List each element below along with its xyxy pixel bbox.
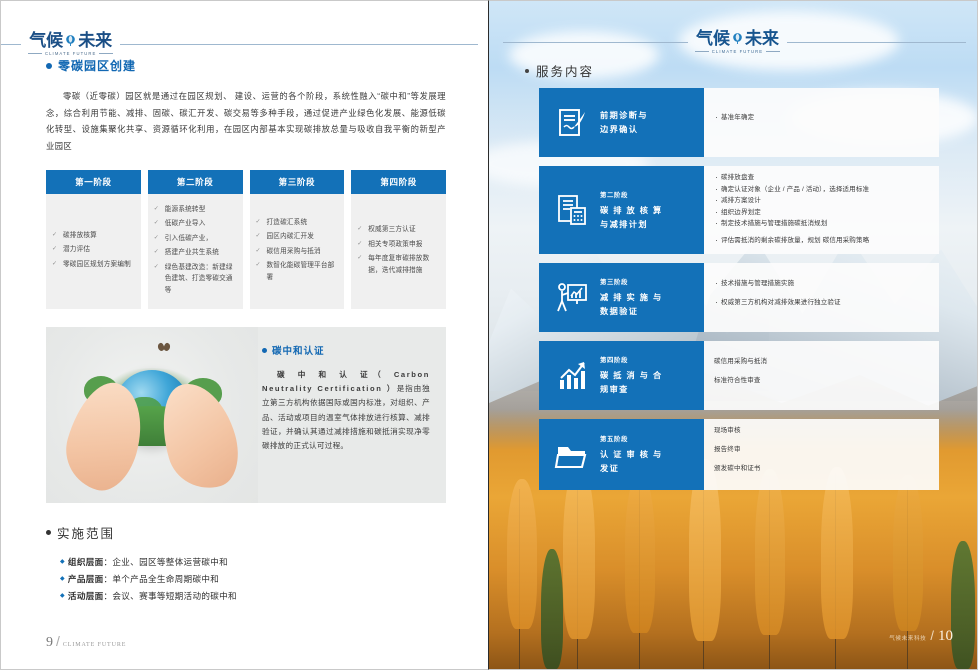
stage-item: 园区内碳汇开发 <box>256 231 339 243</box>
cn-body: 是指由独立第三方机构依据国际或国内标准，对组织、产品、活动或项目的温室气体排放进… <box>262 384 430 450</box>
carbon-neutrality-title: 碳中和认证 <box>262 343 430 357</box>
service-row-4-title: 第四阶段 碳 抵 消 与 合 规审查 <box>600 354 663 397</box>
detail-item: 评估需抵消的剩余碳排放量，规划 碳信用采购策略 <box>714 236 929 246</box>
report-calculator-icon <box>552 190 592 230</box>
stage-item: 打造碳汇系统 <box>256 217 339 229</box>
detail-item: 技术措施与管理措施实施 <box>714 279 929 289</box>
cn-lead-cn: 碳 中 和 认 证 <box>277 370 373 379</box>
service-row-5-line1: 认 证 审 核 与 <box>600 450 663 459</box>
right-page: 气候 未来 CLIMATE FUTURE <box>489 0 978 670</box>
tree-canopy-evergreen <box>541 549 563 669</box>
stage-header-2: 第二阶段 <box>148 170 243 194</box>
service-row-2-line2: 与减排计划 <box>600 220 648 229</box>
brand-name-part2: 未来 <box>745 30 779 47</box>
service-row-1-title: 前期诊断与 边界确认 <box>600 109 648 137</box>
detail-item: 颁发碳中和证书 <box>714 464 929 474</box>
logo-rule-right <box>120 44 478 45</box>
intro-paragraph: 零碳（近零碳）园区就是通过在园区规划、 建设、运营的各个阶段，系统性融入“碳中和… <box>46 88 446 154</box>
stage-column-3: 第三阶段 打造碳汇系统 园区内碳汇开发 碳信用采购与抵消 数智化能碳管理平台部署 <box>250 170 345 309</box>
service-row-5-title: 第五阶段 认 证 审 核 与 发证 <box>600 433 663 476</box>
service-row-5-stage-label: 第五阶段 <box>600 433 663 447</box>
scope-item-text: ：企业、园区等整体运营碳中和 <box>104 554 229 571</box>
service-row-3-details: 技术措施与管理措施实施 权威第三方机构对减排效果进行独立验证 <box>704 263 939 332</box>
footer-brand: 气候未来科技 <box>889 634 926 642</box>
scope-bullet-icon <box>46 530 51 535</box>
logo-rule-right <box>787 42 966 43</box>
section-heading-label: 服务内容 <box>536 61 594 80</box>
service-row-1-line1: 前期诊断与 <box>600 111 648 120</box>
brand-logo-main: 气候 未来 <box>29 32 112 49</box>
detail-item: 报告终审 <box>714 445 929 455</box>
section-heading-service-content: 服务内容 <box>525 61 594 80</box>
logo-sub-dash-right <box>99 53 113 54</box>
carbon-neutrality-bullet-icon <box>262 348 267 353</box>
stage-item: 低碳产业导入 <box>154 218 237 230</box>
left-page-body: 零碳园区创建 零碳（近零碳）园区就是通过在园区规划、 建设、运营的各个阶段，系统… <box>46 57 446 605</box>
service-row-5-header: 第五阶段 认 证 审 核 与 发证 <box>539 419 704 490</box>
service-row-3-line2: 数据验证 <box>600 307 638 316</box>
service-row-3: 第三阶段 减 排 实 施 与 数据验证 技术措施与管理措施实施 权威第三方机构对… <box>539 263 939 332</box>
leaf-globe-mark-icon <box>64 34 77 47</box>
brand-name-part1: 气候 <box>29 32 63 49</box>
stage-header-1: 第一阶段 <box>46 170 141 194</box>
stage-header-4: 第四阶段 <box>351 170 446 194</box>
stage-item: 碳信用采购与抵消 <box>256 246 339 258</box>
brand-name-en: CLIMATE FUTURE <box>712 49 763 54</box>
carbon-neutrality-text: 碳中和认证 碳 中 和 认 证（ Carbon Neutrality Certi… <box>258 327 446 503</box>
stage-table: 第一阶段 碳排放核算 潜力评估 零碳园区规划方案编制 第二阶段 能源系统转型 <box>46 170 446 309</box>
presenter-chart-icon <box>552 278 592 318</box>
stage-item: 潜力评估 <box>52 244 135 256</box>
section-heading-zero-carbon-park: 零碳园区创建 <box>46 57 446 74</box>
footer-slash: / <box>930 628 934 643</box>
leaf-globe-mark-icon <box>731 32 744 45</box>
service-row-3-stage-label: 第三阶段 <box>600 276 663 290</box>
footer-brand: CLIMATE FUTURE <box>63 642 126 648</box>
service-row-3-header: 第三阶段 减 排 实 施 与 数据验证 <box>539 263 704 332</box>
footer-slash: / <box>56 633 60 649</box>
stage-item: 引入低碳产业， <box>154 233 237 245</box>
service-row-2-details: 碳排放盘查 确定认证对象（企业 / 产品 / 活动），选择适用标准 减排方案设计… <box>704 166 939 254</box>
stage-body-3: 打造碳汇系统 园区内碳汇开发 碳信用采购与抵消 数智化能碳管理平台部署 <box>250 194 345 309</box>
stage-item: 数智化能碳管理平台部署 <box>256 260 339 283</box>
folder-icon <box>552 435 592 475</box>
service-row-4-details: 碳信用采购与抵消 标准符合性审查 <box>704 341 939 410</box>
scope-item-text: ：单个产品全生命周期碳中和 <box>104 571 220 588</box>
service-row-1: 前期诊断与 边界确认 基准年确定 <box>539 88 939 157</box>
section-bullet-icon <box>525 69 529 73</box>
butterfly-wing-right <box>163 342 172 352</box>
right-page-logo-header: 气候 未来 CLIMATE FUTURE <box>489 27 978 57</box>
page-number: 10 <box>938 628 953 645</box>
service-row-1-details: 基准年确定 <box>704 88 939 157</box>
section-bullet-icon <box>46 63 52 69</box>
diamond-bullet-icon: ◆ <box>60 571 65 588</box>
carbon-neutrality-paragraph: 碳 中 和 认 证（ Carbon Neutrality Certificati… <box>262 368 430 453</box>
detail-item: 权威第三方机构对减排效果进行独立验证 <box>714 298 929 308</box>
stage-body-4: 权威第三方认证 相关专项政策申报 每年度复审碳排放数据，迭代减排措施 <box>351 194 446 309</box>
service-row-5: 第五阶段 认 证 审 核 与 发证 现场审核 报告终审 颁发碳中和证书 <box>539 419 939 490</box>
logo-sub-dash-right <box>766 51 780 52</box>
growth-bar-chart-icon <box>552 356 592 396</box>
service-rows: 前期诊断与 边界确认 基准年确定 <box>539 88 939 499</box>
detail-item: 碳排放盘查 <box>714 173 929 183</box>
service-row-1-line2: 边界确认 <box>600 125 638 134</box>
stage-body-2: 能源系统转型 低碳产业导入 引入低碳产业， 搭建产业共生系统 绿色基建改造：新建… <box>148 194 243 309</box>
stage-item: 权威第三方认证 <box>357 224 440 236</box>
brand-logo-sub: CLIMATE FUTURE <box>695 49 780 54</box>
stage-item: 每年度复审碳排放数据，迭代减排措施 <box>357 253 440 276</box>
list-item: ◆ 组织层面 ：企业、园区等整体运营碳中和 <box>60 554 446 571</box>
carbon-neutrality-card: 碳中和认证 碳 中 和 认 证（ Carbon Neutrality Certi… <box>46 327 446 503</box>
service-row-4-stage-label: 第四阶段 <box>600 354 663 368</box>
service-row-5-line2: 发证 <box>600 464 619 473</box>
service-row-2-line1: 碳 排 放 核 算 <box>600 206 663 215</box>
service-row-3-title: 第三阶段 减 排 实 施 与 数据验证 <box>600 276 663 319</box>
list-item: ◆ 产品层面 ：单个产品全生命周期碳中和 <box>60 571 446 588</box>
scope-item-label: 产品层面 <box>68 571 104 588</box>
detail-item: 减排方案设计 <box>714 196 929 206</box>
stage-item: 搭建产业共生系统 <box>154 247 237 259</box>
detail-item: 制定技术措施与管理措施碳抵消规划 <box>714 219 929 229</box>
stage-item: 零碳园区规划方案编制 <box>52 259 135 271</box>
service-row-1-header: 前期诊断与 边界确认 <box>539 88 704 157</box>
hands-illustration <box>64 354 240 490</box>
page-number: 9 <box>46 635 53 651</box>
scope-item-label: 组织层面 <box>68 554 104 571</box>
tree-canopy <box>507 479 537 629</box>
scope-heading-label: 实施范围 <box>57 523 115 542</box>
stage-item: 绿色基建改造：新建绿色建筑、打造零碳交通等 <box>154 262 237 297</box>
brand-name-part2: 未来 <box>78 32 112 49</box>
brand-logo: 气候 未来 CLIMATE FUTURE <box>21 32 120 56</box>
service-row-3-line1: 减 排 实 施 与 <box>600 293 663 302</box>
scope-section: 实施范围 ◆ 组织层面 ：企业、园区等整体运营碳中和 ◆ 产品层面 ：单个产品全… <box>46 523 446 605</box>
scope-list: ◆ 组织层面 ：企业、园区等整体运营碳中和 ◆ 产品层面 ：单个产品全生命周期碳… <box>46 554 446 605</box>
detail-item: 确定认证对象（企业 / 产品 / 活动），选择适用标准 <box>714 185 929 195</box>
brand-logo-sub: CLIMATE FUTURE <box>28 51 113 56</box>
stage-column-2: 第二阶段 能源系统转型 低碳产业导入 引入低碳产业， 搭建产业共生系统 绿色基建… <box>148 170 243 309</box>
stage-column-4: 第四阶段 权威第三方认证 相关专项政策申报 每年度复审碳排放数据，迭代减排措施 <box>351 170 446 309</box>
stage-header-3: 第三阶段 <box>250 170 345 194</box>
butterfly-icon <box>158 343 170 352</box>
stage-item: 能源系统转型 <box>154 204 237 216</box>
hands-holding-earth-illustration-icon <box>46 327 258 503</box>
detail-item: 组织边界划定 <box>714 208 929 218</box>
tree-canopy-evergreen <box>951 541 975 669</box>
left-page-logo-header: 气候 未来 CLIMATE FUTURE <box>1 29 490 59</box>
brand-name-en: CLIMATE FUTURE <box>45 51 96 56</box>
list-item: ◆ 活动层面 ：会议、赛事等短期活动的碳中和 <box>60 588 446 605</box>
logo-rule-left <box>503 42 688 43</box>
service-row-4: 第四阶段 碳 抵 消 与 合 规审查 碳信用采购与抵消 标准符合性审查 <box>539 341 939 410</box>
service-row-4-line2: 规审查 <box>600 385 629 394</box>
left-page: 气候 未来 CLIMATE FUTURE <box>0 0 489 670</box>
service-row-5-details: 现场审核 报告终审 颁发碳中和证书 <box>704 419 939 490</box>
document-pen-icon <box>552 103 592 143</box>
scope-item-label: 活动层面 <box>68 588 104 605</box>
service-row-2-stage-label: 第二阶段 <box>600 189 663 203</box>
brochure-spread: 气候 未来 CLIMATE FUTURE <box>0 0 979 670</box>
diamond-bullet-icon: ◆ <box>60 554 65 571</box>
logo-sub-dash-left <box>28 53 42 54</box>
stage-column-1: 第一阶段 碳排放核算 潜力评估 零碳园区规划方案编制 <box>46 170 141 309</box>
stage-item: 碳排放核算 <box>52 230 135 242</box>
carbon-neutrality-title-label: 碳中和认证 <box>272 343 325 357</box>
detail-item: 基准年确定 <box>714 113 929 123</box>
logo-rule-left <box>1 44 21 45</box>
stage-body-1: 碳排放核算 潜力评估 零碳园区规划方案编制 <box>46 194 141 309</box>
service-row-4-header: 第四阶段 碳 抵 消 与 合 规审查 <box>539 341 704 410</box>
service-row-2-header: 第二阶段 碳 排 放 核 算 与减排计划 <box>539 166 704 254</box>
scope-item-text: ：会议、赛事等短期活动的碳中和 <box>104 588 237 605</box>
detail-item: 现场审核 <box>714 426 929 436</box>
detail-item: 标准符合性审查 <box>714 376 929 386</box>
diamond-bullet-icon: ◆ <box>60 588 65 605</box>
logo-sub-dash-left <box>695 51 709 52</box>
right-page-footer: 气候未来科技 / 10 <box>889 628 953 645</box>
scope-heading: 实施范围 <box>46 523 446 542</box>
service-row-2: 第二阶段 碳 排 放 核 算 与减排计划 碳排放盘查 确定认证对象（企业 / 产… <box>539 166 939 254</box>
brand-logo: 气候 未来 CLIMATE FUTURE <box>688 30 787 54</box>
detail-item: 碳信用采购与抵消 <box>714 357 929 367</box>
service-row-4-line1: 碳 抵 消 与 合 <box>600 371 663 380</box>
section-heading-label: 零碳园区创建 <box>58 57 136 74</box>
stage-item: 相关专项政策申报 <box>357 239 440 251</box>
left-page-footer: 9 / CLIMATE FUTURE <box>46 633 126 651</box>
brand-name-part1: 气候 <box>696 30 730 47</box>
brand-logo-main: 气候 未来 <box>696 30 779 47</box>
service-row-2-title: 第二阶段 碳 排 放 核 算 与减排计划 <box>600 189 663 232</box>
